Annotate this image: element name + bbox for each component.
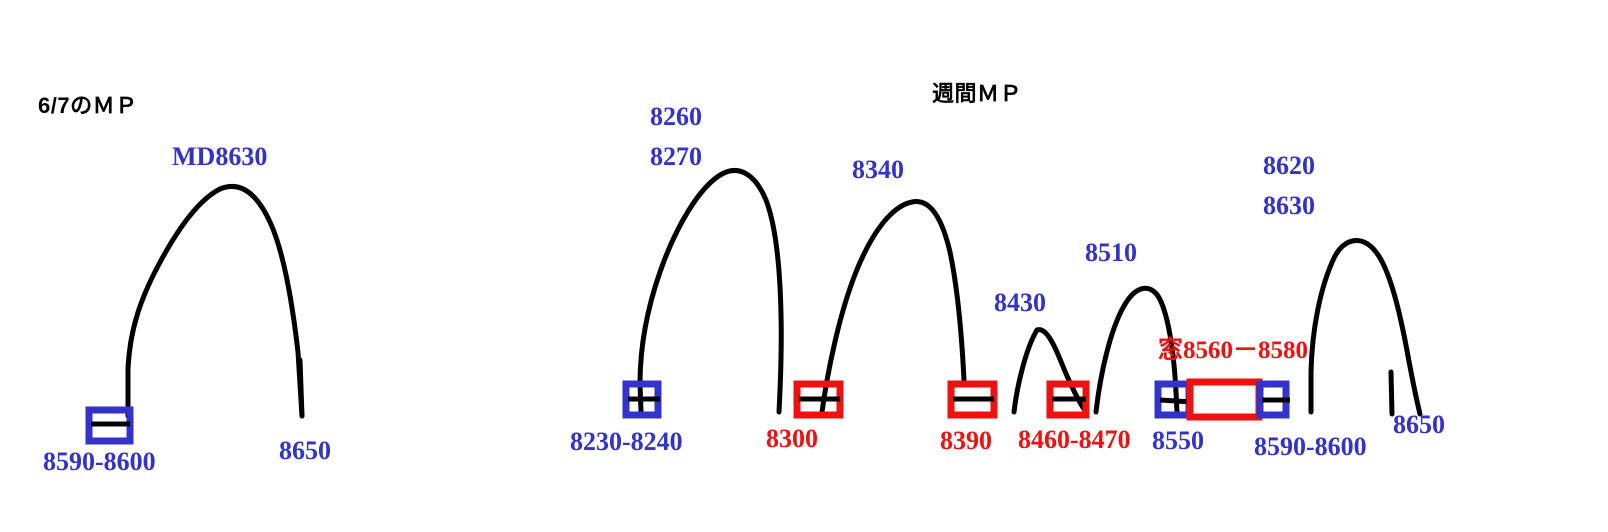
daily-chart-title: 6/7のＭＰ — [38, 88, 138, 120]
daily-value-area-label: 8590-8600 — [43, 447, 156, 477]
screenshot-canvas: 6/7のＭＰ MD8630 8590-8600 8650 週間ＭＰ 8260 8… — [0, 0, 1608, 532]
weekly-value-area-label-8300: 8300 — [766, 424, 818, 454]
weekly-value-area-label-8390: 8390 — [940, 426, 992, 456]
weekly-peak-label-8340: 8340 — [852, 155, 904, 185]
daily-value-area-box-group — [89, 410, 130, 441]
weekly-peak-label-8270: 8270 — [650, 142, 702, 172]
weekly-peak-label-8630: 8630 — [1263, 191, 1315, 221]
weekly-value-area-boxes-group — [626, 382, 1290, 417]
weekly-value-area-label-8230-8240: 8230-8240 — [570, 427, 683, 457]
gap-window-box-8560-8580 — [1190, 382, 1259, 417]
weekly-peak-label-8510: 8510 — [1085, 238, 1137, 268]
daily-tail-stroke — [300, 360, 302, 416]
peak-curve-8630 — [1311, 241, 1420, 414]
weekly-value-area-label-8590-8600: 8590-8600 — [1254, 432, 1367, 462]
peak-curve-8270 — [640, 170, 781, 412]
weekly-value-area-label-8460-8470: 8460-8470 — [1018, 425, 1131, 455]
weekly-value-area-label-8550: 8550 — [1152, 426, 1204, 456]
weekly-tail-stroke — [1391, 372, 1392, 414]
weekly-peak-label-8260: 8260 — [650, 102, 702, 132]
weekly-peak-label-8620: 8620 — [1263, 151, 1315, 181]
weekly-chart-title: 週間ＭＰ — [932, 76, 1022, 108]
daily-mp-curve-group — [128, 186, 302, 416]
weekly-peak-label-8430: 8430 — [994, 288, 1046, 318]
daily-end-label: 8650 — [279, 436, 331, 466]
weekly-end-label-8650: 8650 — [1393, 410, 1445, 440]
distribution-curve — [128, 186, 302, 416]
peak-curve-8340 — [822, 201, 964, 412]
gap-window-label-8560-8580: 窓8560－8580 — [1158, 330, 1308, 366]
daily-peak-label: MD8630 — [172, 142, 267, 172]
